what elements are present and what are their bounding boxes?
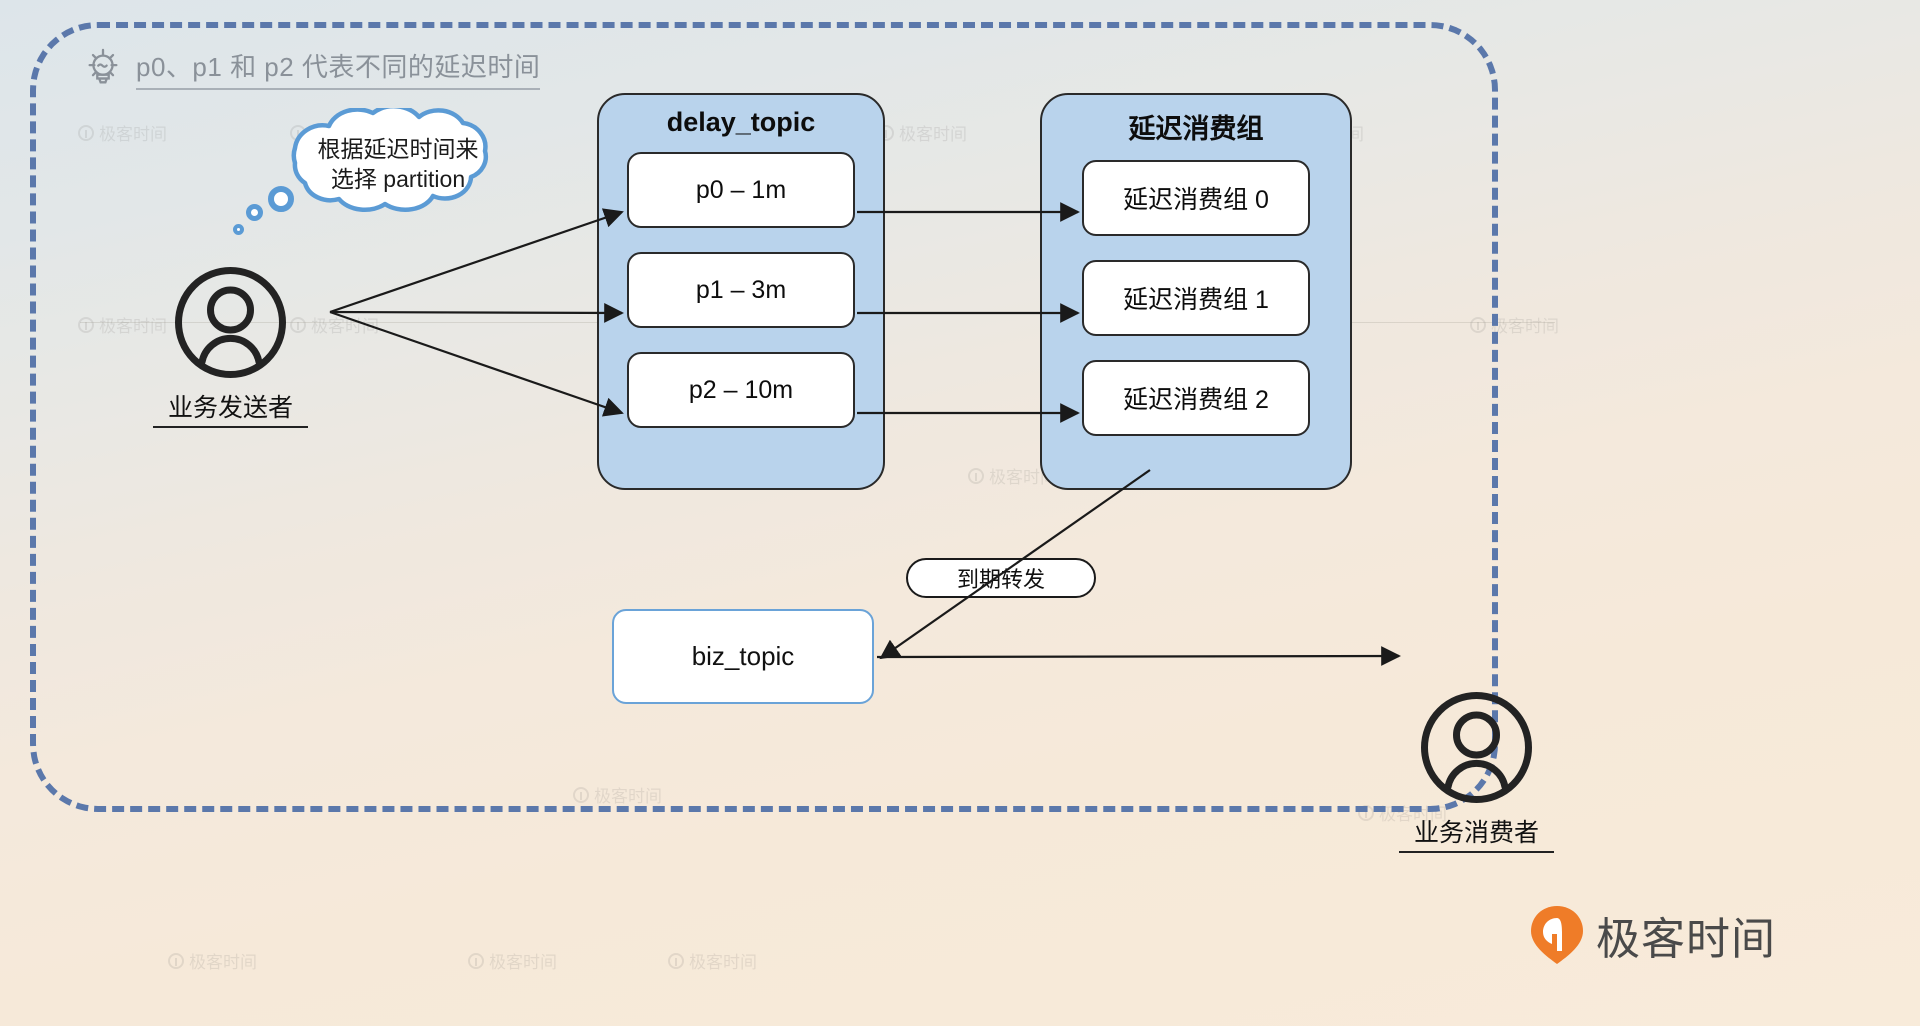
forward-label-pill: 到期转发 bbox=[906, 558, 1096, 598]
note-banner: p0、p1 和 p2 代表不同的延迟时间 bbox=[82, 46, 540, 90]
geekbang-teardrop-icon bbox=[1528, 904, 1586, 966]
actor-producer: 业务发送者 bbox=[153, 265, 308, 428]
delay-consumer-group-title: 延迟消费组 bbox=[1042, 107, 1350, 146]
consumer-group-chip[interactable]: 延迟消费组 2 bbox=[1082, 360, 1310, 436]
brand-logo: 极客时间 bbox=[1528, 903, 1776, 967]
lightbulb-icon bbox=[82, 46, 124, 90]
partition-chip[interactable]: p1 – 3m bbox=[627, 252, 855, 328]
partition-chip[interactable]: p0 – 1m bbox=[627, 152, 855, 228]
delay-topic-title: delay_topic bbox=[599, 107, 883, 138]
watermark-text: 极客时间 bbox=[1491, 312, 1559, 337]
watermark: 极客时间 bbox=[168, 948, 257, 973]
thought-bubble-text: 根据延迟时间来 选择 partition bbox=[243, 108, 553, 220]
watermark-logo-icon bbox=[468, 953, 484, 969]
diagram-canvas: 极客时间 极客时间 极客时间 极客时间 极客时间 极客时间 极客时间 极客时间 … bbox=[0, 0, 1920, 1026]
user-avatar-icon bbox=[1419, 690, 1534, 805]
watermark-text: 极客时间 bbox=[489, 948, 557, 973]
watermark-text: 极客时间 bbox=[189, 948, 257, 973]
thought-dot-small bbox=[233, 224, 244, 235]
biz-topic-box[interactable]: biz_topic bbox=[612, 609, 874, 704]
actor-consumer-label: 业务消费者 bbox=[1399, 813, 1554, 853]
consumer-group-chip[interactable]: 延迟消费组 0 bbox=[1082, 160, 1310, 236]
actor-producer-label: 业务发送者 bbox=[153, 388, 308, 428]
consumer-group-list: 延迟消费组 0 延迟消费组 1 延迟消费组 2 bbox=[1042, 160, 1350, 436]
note-text: p0、p1 和 p2 代表不同的延迟时间 bbox=[136, 47, 540, 90]
delay-topic-container: delay_topic p0 – 1m p1 – 3m p2 – 10m bbox=[597, 93, 885, 490]
partition-list: p0 – 1m p1 – 3m p2 – 10m bbox=[599, 152, 883, 428]
watermark-text: 极客时间 bbox=[689, 948, 757, 973]
actor-consumer: 业务消费者 bbox=[1399, 690, 1554, 853]
brand-text: 极客时间 bbox=[1596, 903, 1776, 967]
watermark-logo-icon bbox=[668, 953, 684, 969]
thought-bubble: 根据延迟时间来 选择 partition bbox=[243, 108, 553, 220]
watermark: 极客时间 bbox=[668, 948, 757, 973]
thought-line-2: 选择 partition bbox=[331, 164, 465, 194]
watermark-logo-icon bbox=[168, 953, 184, 969]
user-avatar-icon bbox=[173, 265, 288, 380]
partition-chip[interactable]: p2 – 10m bbox=[627, 352, 855, 428]
watermark: 极客时间 bbox=[468, 948, 557, 973]
consumer-group-chip[interactable]: 延迟消费组 1 bbox=[1082, 260, 1310, 336]
thought-line-1: 根据延迟时间来 bbox=[318, 134, 479, 164]
delay-consumer-group-container: 延迟消费组 延迟消费组 0 延迟消费组 1 延迟消费组 2 bbox=[1040, 93, 1352, 490]
